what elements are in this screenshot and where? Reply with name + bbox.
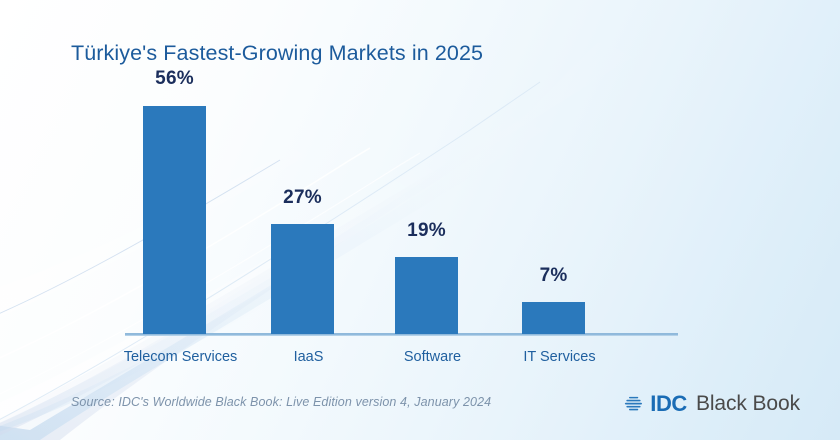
category-label-it-services: IT Services: [467, 349, 652, 365]
plot-area: 56% 27% 19% 7%: [125, 90, 678, 334]
bar-value-label: 19%: [369, 220, 484, 242]
slide-canvas: Türkiye's Fastest-Growing Markets in 202…: [0, 0, 840, 440]
bar-chart: Türkiye's Fastest-Growing Markets in 202…: [0, 0, 840, 440]
bar-value-label: 7%: [496, 265, 611, 287]
bar-value-label: 27%: [245, 187, 360, 209]
logo-text-idc: IDC: [650, 391, 687, 417]
source-note: Source: IDC's Worldwide Black Book: Live…: [71, 395, 491, 409]
chart-title: Türkiye's Fastest-Growing Markets in 202…: [71, 41, 483, 66]
bar-value-label: 56%: [117, 68, 232, 90]
bar-iaas[interactable]: [271, 224, 334, 334]
bar-telecom-services[interactable]: [143, 106, 206, 334]
bar-software[interactable]: [395, 257, 458, 334]
bar-it-services[interactable]: [522, 302, 585, 334]
logo-text-black-book: Black Book: [696, 392, 800, 416]
idc-black-book-logo: IDC Black Book: [624, 391, 800, 417]
idc-globe-icon: [624, 393, 646, 415]
